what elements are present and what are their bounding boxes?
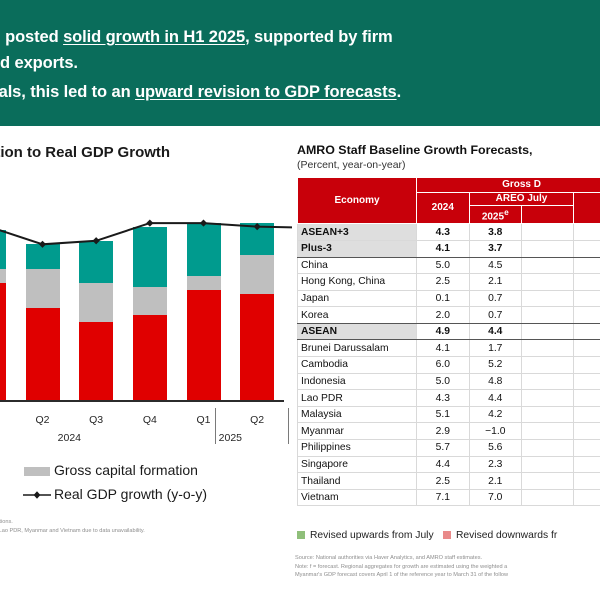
chart-x-axis xyxy=(0,400,284,402)
cell-value-offscreen xyxy=(522,224,574,241)
banner-line-3-pre: e deals, this led to an xyxy=(0,83,135,101)
chart-legend: Gross capital formation Real GDP growth … xyxy=(0,460,292,508)
cell-economy: ASEAN xyxy=(298,323,417,340)
cell-value-offscreen xyxy=(574,323,600,340)
table-row[interactable]: Thailand2.52.1 xyxy=(298,473,600,490)
cell-economy: Myanmar xyxy=(298,423,417,440)
table-row[interactable]: ASEAN+34.33.8 xyxy=(298,224,600,241)
table-head: Economy Gross D 2024 AREO July 2025e xyxy=(298,178,600,224)
year-separator xyxy=(288,408,289,444)
table-row[interactable]: Japan0.10.7 xyxy=(298,290,600,307)
cell-value-offscreen xyxy=(574,473,600,490)
cell-value-offscreen xyxy=(522,473,574,490)
line-marker-icon xyxy=(22,488,52,502)
cell-value-offscreen xyxy=(574,290,600,307)
cell-economy: Brunei Darussalam xyxy=(298,340,417,357)
banner-line-2: l and exports. xyxy=(0,54,78,73)
year-separator xyxy=(215,408,216,444)
cell-value-offscreen xyxy=(522,440,574,457)
table-row[interactable]: Lao PDR4.34.4 xyxy=(298,390,600,407)
legend-revised-downwards-label: Revised downwards fr xyxy=(456,530,557,541)
table-row[interactable]: Indonesia5.04.8 xyxy=(298,373,600,390)
table-title: AMRO Staff Baseline Growth Forecasts, xyxy=(297,143,532,157)
cell-value-offscreen xyxy=(522,373,574,390)
cell-value-2025: 2.1 xyxy=(469,274,521,291)
cell-value-offscreen xyxy=(574,423,600,440)
cell-value-2025: 2.1 xyxy=(469,473,521,490)
table-body: ASEAN+34.33.8Plus-34.13.7China5.04.5Hong… xyxy=(298,224,600,506)
legend-item-gross-capital-formation: Gross capital formation xyxy=(0,460,292,484)
cell-value-2025: 0.7 xyxy=(469,290,521,307)
banner-line-1-pre: nies posted xyxy=(0,28,63,46)
cell-value-2025: 2.3 xyxy=(469,456,521,473)
cell-value-offscreen xyxy=(522,489,574,506)
cell-value-2024: 6.0 xyxy=(417,357,469,374)
legend-label-gross-capital-formation: Gross capital formation xyxy=(54,462,198,478)
cell-value-2024: 7.1 xyxy=(417,489,469,506)
table-row[interactable]: Cambodia6.05.2 xyxy=(298,357,600,374)
table-row[interactable]: Philippines5.75.6 xyxy=(298,440,600,457)
cell-value-2024: 4.3 xyxy=(417,390,469,407)
table-row[interactable]: Hong Kong, China2.52.1 xyxy=(298,274,600,291)
cell-value-offscreen xyxy=(574,406,600,423)
x-tick-label: Q3 xyxy=(79,414,113,426)
cell-value-2024: 4.1 xyxy=(417,340,469,357)
cell-value-2025: 5.6 xyxy=(469,440,521,457)
cell-value-offscreen xyxy=(574,489,600,506)
cell-economy: China xyxy=(298,257,417,274)
cell-value-2024: 2.5 xyxy=(417,473,469,490)
cell-economy: Cambodia xyxy=(298,357,417,374)
cell-value-offscreen xyxy=(522,423,574,440)
table-revision-legend: Revised upwards from July Revised downwa… xyxy=(295,530,600,546)
cell-value-offscreen xyxy=(574,357,600,374)
cell-value-2025: 5.2 xyxy=(469,357,521,374)
growth-line-marker xyxy=(39,241,46,248)
year-label: 2024 xyxy=(49,432,89,444)
gray-swatch-icon xyxy=(24,467,50,476)
x-tick-label: Q2 xyxy=(26,414,60,426)
forecast-table-panel: AMRO Staff Baseline Growth Forecasts, (P… xyxy=(292,126,600,600)
cell-economy: Hong Kong, China xyxy=(298,274,417,291)
cell-value-offscreen xyxy=(522,290,574,307)
cell-value-offscreen xyxy=(522,390,574,407)
table-row[interactable]: Plus-34.13.7 xyxy=(298,240,600,257)
table-row[interactable]: Korea2.00.7 xyxy=(298,307,600,324)
cell-value-2025: 4.4 xyxy=(469,390,521,407)
table-row[interactable]: Brunei Darussalam4.11.7 xyxy=(298,340,600,357)
cell-economy: Japan xyxy=(298,290,417,307)
cell-value-offscreen xyxy=(574,257,600,274)
cell-economy: ASEAN+3 xyxy=(298,224,417,241)
col-header-2025-text: 2025 xyxy=(482,211,504,222)
table-row[interactable]: Myanmar2.9−1.0 xyxy=(298,423,600,440)
cell-value-2024: 5.7 xyxy=(417,440,469,457)
cell-value-offscreen xyxy=(522,340,574,357)
cell-value-offscreen xyxy=(574,240,600,257)
col-header-areo-july: AREO July xyxy=(469,193,574,206)
cell-value-2025: 4.4 xyxy=(469,323,521,340)
cell-economy: Malaysia xyxy=(298,406,417,423)
cell-value-offscreen xyxy=(574,340,600,357)
x-tick-label: Q2 xyxy=(240,414,274,426)
col-header-blank xyxy=(522,206,574,224)
pink-square-icon xyxy=(443,531,451,539)
col-header-2024: 2024 xyxy=(417,193,469,224)
banner-line-1-post: , supported by firm xyxy=(245,28,393,46)
cell-value-2025: 1.7 xyxy=(469,340,521,357)
col-header-extra xyxy=(574,193,600,224)
col-header-2025-superscript: e xyxy=(504,207,509,217)
table-row[interactable]: Vietnam7.17.0 xyxy=(298,489,600,506)
table-footnote-line-3: Myanmar's GDP forecast covers April 1 of… xyxy=(295,571,600,580)
banner-line-3-underlined: upward revision to GDP forecasts xyxy=(135,83,397,101)
x-tick-label: Q1 xyxy=(0,414,6,426)
cell-value-offscreen xyxy=(574,456,600,473)
col-header-2025: 2025e xyxy=(469,206,521,224)
banner-line-1-underlined: solid growth in H1 2025 xyxy=(63,28,245,46)
forecast-table-wrapper: Economy Gross D 2024 AREO July 2025e ASE… xyxy=(297,177,600,506)
cell-value-offscreen xyxy=(574,373,600,390)
cell-value-2025: 4.2 xyxy=(469,406,521,423)
cell-value-offscreen xyxy=(574,224,600,241)
cell-value-offscreen xyxy=(574,390,600,407)
cell-value-2025: 4.5 xyxy=(469,257,521,274)
cell-value-offscreen xyxy=(522,406,574,423)
cell-value-2024: 2.5 xyxy=(417,274,469,291)
cell-value-2025: 3.7 xyxy=(469,240,521,257)
cell-value-2024: 2.9 xyxy=(417,423,469,440)
cell-value-offscreen xyxy=(574,307,600,324)
header-banner: nies posted solid growth in H1 2025, sup… xyxy=(0,0,600,126)
cell-value-2024: 2.0 xyxy=(417,307,469,324)
cell-value-2025: 4.8 xyxy=(469,373,521,390)
growth-line-path xyxy=(0,220,292,244)
growth-line-marker xyxy=(93,237,100,244)
cell-value-2024: 4.3 xyxy=(417,224,469,241)
cell-value-2024: 4.4 xyxy=(417,456,469,473)
real-gdp-growth-line xyxy=(0,170,284,400)
chart-title: tribution to Real GDP Growth xyxy=(0,144,170,161)
cell-value-offscreen xyxy=(522,274,574,291)
table-row[interactable]: Singapore4.42.3 xyxy=(298,456,600,473)
cell-value-offscreen xyxy=(522,257,574,274)
cell-economy: Singapore xyxy=(298,456,417,473)
table-footnote-line-2: Note: f = forecast. Regional aggregates … xyxy=(295,563,600,572)
cell-value-2024: 4.9 xyxy=(417,323,469,340)
chart-footnote-line-2: Cambodia, Lao PDR, Myanmar and Vietnam d… xyxy=(0,527,292,536)
cell-value-2024: 4.1 xyxy=(417,240,469,257)
table-footnote-line-1: Source: National authorities via Haver A… xyxy=(295,554,600,563)
cell-value-offscreen xyxy=(522,323,574,340)
growth-line-marker xyxy=(146,219,153,226)
growth-line-marker xyxy=(254,223,261,230)
chart-x-tick-labels: Q1Q2Q3Q4Q1Q2 xyxy=(0,414,292,434)
gdp-contribution-chart-panel: tribution to Real GDP Growth Q1Q2Q3Q4Q1Q… xyxy=(0,126,292,600)
cell-value-2025: 3.8 xyxy=(469,224,521,241)
cell-value-offscreen xyxy=(522,456,574,473)
cell-economy: Korea xyxy=(298,307,417,324)
cell-value-2024: 5.1 xyxy=(417,406,469,423)
cell-value-offscreen xyxy=(522,307,574,324)
cell-economy: Indonesia xyxy=(298,373,417,390)
cell-value-2025: −1.0 xyxy=(469,423,521,440)
col-header-group: Gross D xyxy=(417,178,600,193)
table-row[interactable]: Malaysia5.14.2 xyxy=(298,406,600,423)
x-tick-label: Q4 xyxy=(133,414,167,426)
banner-line-1: nies posted solid growth in H1 2025, sup… xyxy=(0,28,393,47)
table-head-row-1: Economy Gross D xyxy=(298,178,600,193)
cell-value-2025: 0.7 xyxy=(469,307,521,324)
cell-value-offscreen xyxy=(574,440,600,457)
cell-value-offscreen xyxy=(522,240,574,257)
cell-economy: Lao PDR xyxy=(298,390,417,407)
banner-line-3: e deals, this led to an upward revision … xyxy=(0,83,401,102)
banner-line-3-post: . xyxy=(397,83,401,101)
table-footnote: Source: National authorities via Haver A… xyxy=(295,554,600,580)
cell-economy: Vietnam xyxy=(298,489,417,506)
legend-item-real-gdp-growth: Real GDP growth (y-o-y) xyxy=(0,484,292,508)
cell-value-2024: 0.1 xyxy=(417,290,469,307)
cell-value-offscreen xyxy=(522,357,574,374)
cell-value-offscreen xyxy=(574,274,600,291)
legend-revised-downwards: Revised downwards fr xyxy=(443,530,557,541)
legend-revised-upwards-label: Revised upwards from July xyxy=(310,530,434,541)
chart-footnote: staff calculations. Cambodia, Lao PDR, M… xyxy=(0,518,292,535)
forecast-table: Economy Gross D 2024 AREO July 2025e ASE… xyxy=(297,177,600,506)
cell-economy: Thailand xyxy=(298,473,417,490)
growth-line-marker xyxy=(200,219,207,226)
cell-economy: Philippines xyxy=(298,440,417,457)
cell-value-2025: 7.0 xyxy=(469,489,521,506)
legend-label-real-gdp-growth: Real GDP growth (y-o-y) xyxy=(54,486,207,502)
cell-economy: Plus-3 xyxy=(298,240,417,257)
green-square-icon xyxy=(297,531,305,539)
table-subtitle: (Percent, year-on-year) xyxy=(297,159,406,171)
table-row[interactable]: China5.04.5 xyxy=(298,257,600,274)
col-header-economy: Economy xyxy=(298,178,417,224)
legend-revised-upwards: Revised upwards from July xyxy=(297,530,434,541)
year-label: 2025 xyxy=(210,432,250,444)
table-row[interactable]: ASEAN4.94.4 xyxy=(298,323,600,340)
cell-value-2024: 5.0 xyxy=(417,373,469,390)
cell-value-2024: 5.0 xyxy=(417,257,469,274)
chart-footnote-line-1: staff calculations. xyxy=(0,518,292,527)
chart-year-labels: 20242025 xyxy=(0,432,292,452)
